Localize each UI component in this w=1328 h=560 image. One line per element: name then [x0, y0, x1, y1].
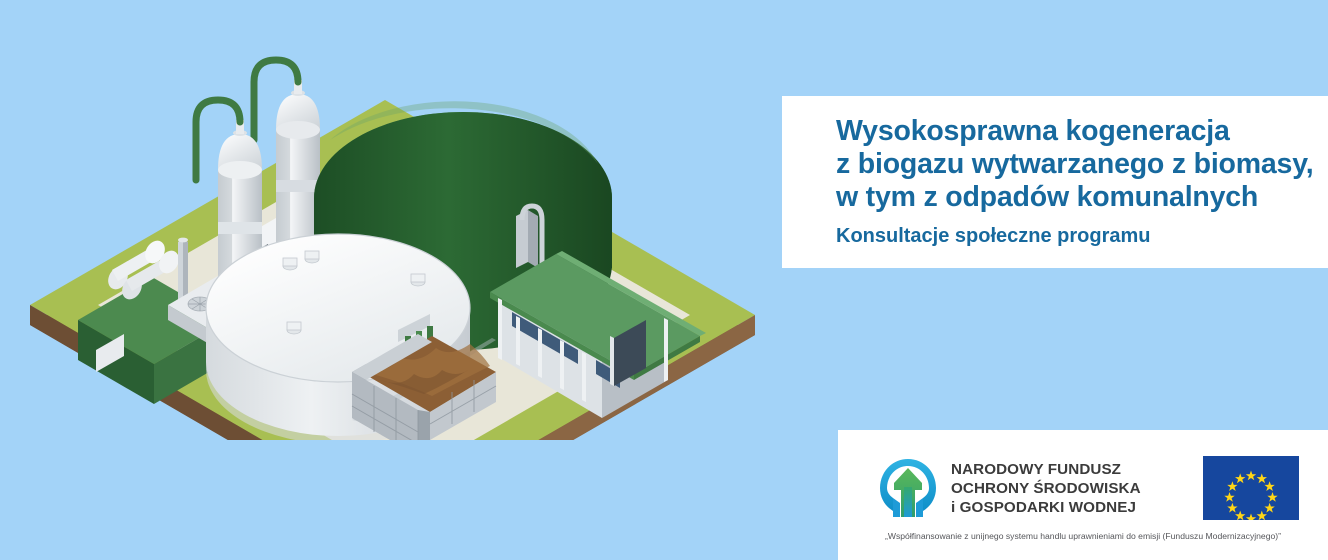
- nfosigw-wordmark: NARODOWY FUNDUSZ OCHRONY ŚRODOWISKA i GO…: [951, 460, 1141, 517]
- nfosigw-tree-icon: [878, 457, 938, 519]
- logo-row: NARODOWY FUNDUSZ OCHRONY ŚRODOWISKA i GO…: [838, 452, 1328, 524]
- title-line-2: z biogazu wytwarzanego z biomasy,: [836, 148, 1328, 181]
- title-panel: Wysokosprawna kogeneracja z biogazu wytw…: [782, 96, 1328, 268]
- nfosigw-logo: NARODOWY FUNDUSZ OCHRONY ŚRODOWISKA i GO…: [878, 457, 1141, 519]
- title-line-3: w tym z odpadów komunalnych: [836, 181, 1328, 214]
- biogas-plant-illustration: [0, 20, 780, 440]
- nfosigw-line-1: NARODOWY FUNDUSZ: [951, 460, 1141, 479]
- title-subtitle: Konsultacje społeczne programu: [836, 223, 1328, 249]
- logo-panel: NARODOWY FUNDUSZ OCHRONY ŚRODOWISKA i GO…: [838, 430, 1328, 560]
- title-line-1: Wysokosprawna kogeneracja: [836, 115, 1328, 148]
- nfosigw-line-3: i GOSPODARKI WODNEJ: [951, 498, 1141, 517]
- poster-canvas: Wysokosprawna kogeneracja z biogazu wytw…: [0, 0, 1328, 560]
- european-union-flag-icon: [1203, 456, 1299, 520]
- funding-note: „Współfinansowanie z unijnego systemu ha…: [838, 530, 1328, 542]
- nfosigw-line-2: OCHRONY ŚRODOWISKA: [951, 479, 1141, 498]
